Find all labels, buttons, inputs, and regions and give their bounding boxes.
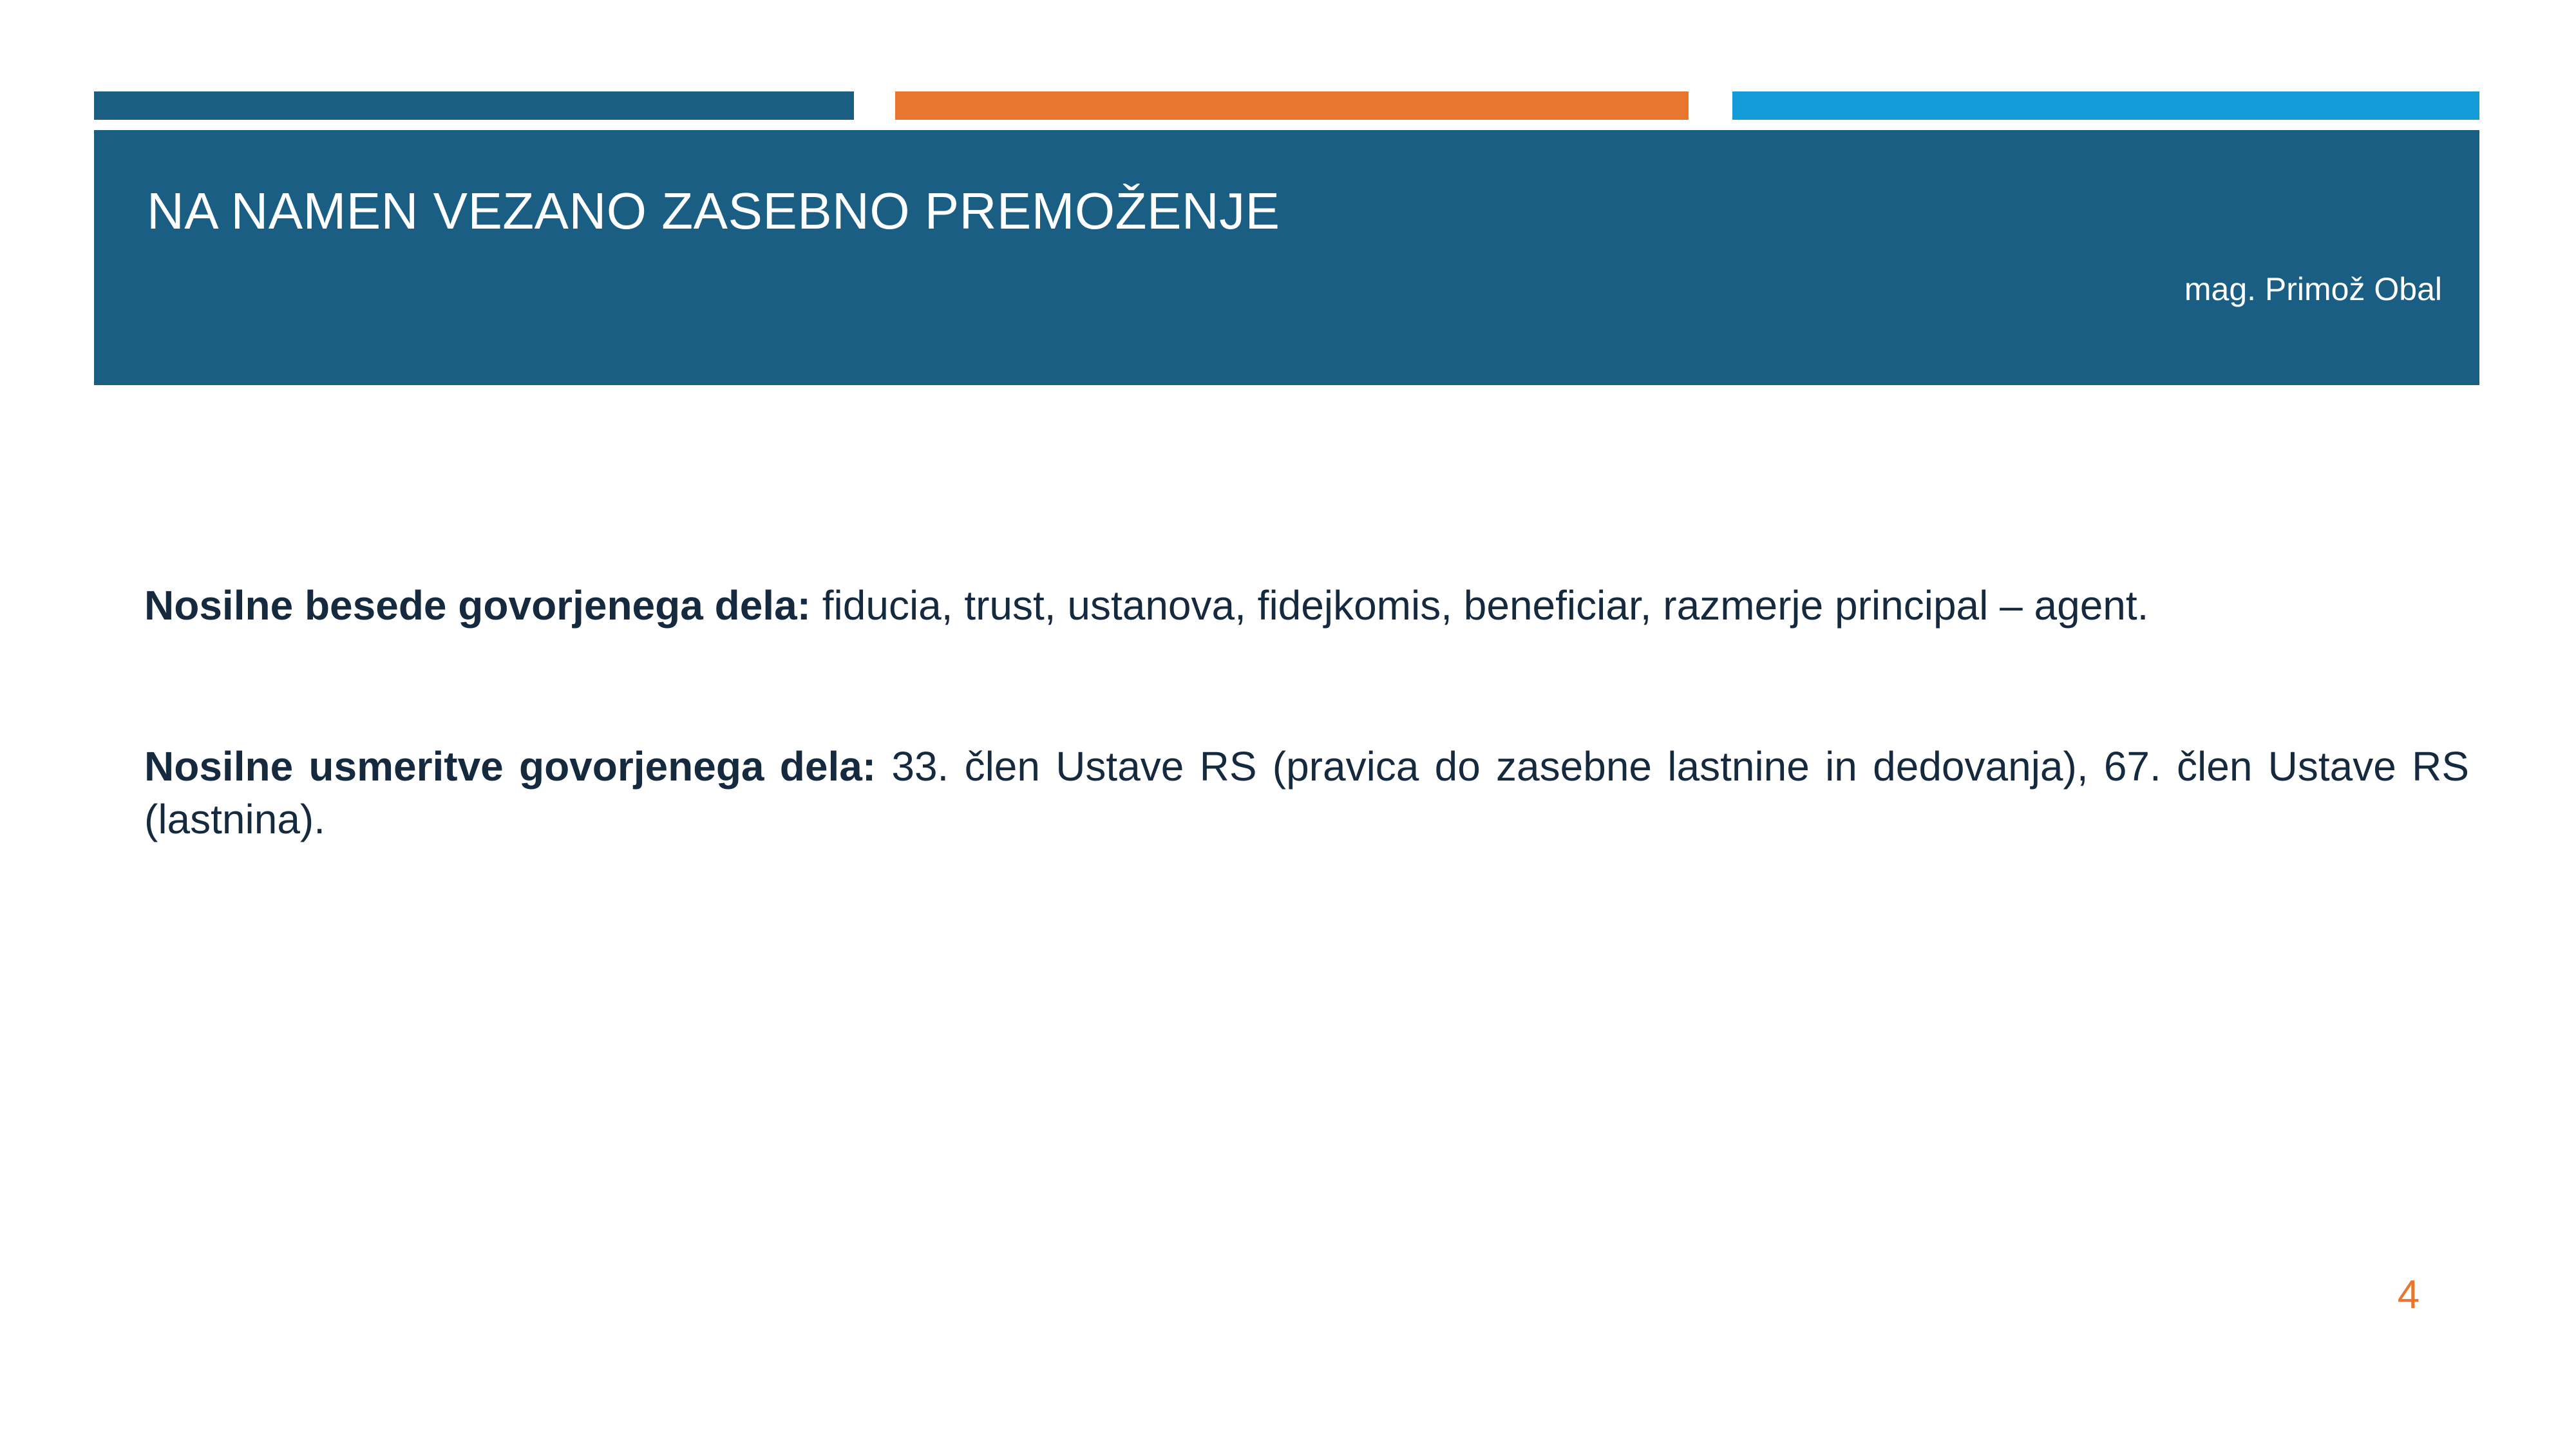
accent-bar-orange	[895, 91, 1689, 120]
body-paragraph-1: Nosilne besede govorjenega dela: fiducia…	[144, 580, 2469, 632]
top-accent-bars	[0, 91, 2576, 120]
body-paragraph-2: Nosilne usmeritve govorjenega dela: 33. …	[144, 741, 2469, 846]
paragraph-spacer	[144, 632, 2469, 741]
slide-body: Nosilne besede govorjenega dela: fiducia…	[144, 580, 2469, 846]
paragraph-2-lead: Nosilne usmeritve govorjenega dela:	[144, 743, 876, 790]
author-byline: mag. Primož Obal	[2184, 273, 2442, 305]
page-number: 4	[2370, 1275, 2447, 1315]
page-title: NA NAMEN VEZANO ZASEBNO PREMOŽENJE	[147, 185, 2441, 237]
paragraph-1-lead: Nosilne besede govorjenega dela:	[144, 582, 811, 629]
slide-header-band: NA NAMEN VEZANO ZASEBNO PREMOŽENJE mag. …	[94, 130, 2479, 385]
accent-bar-teal	[94, 91, 854, 120]
paragraph-1-text: fiducia, trust, ustanova, fidejkomis, be…	[811, 582, 2148, 629]
accent-bar-blue	[1732, 91, 2479, 120]
